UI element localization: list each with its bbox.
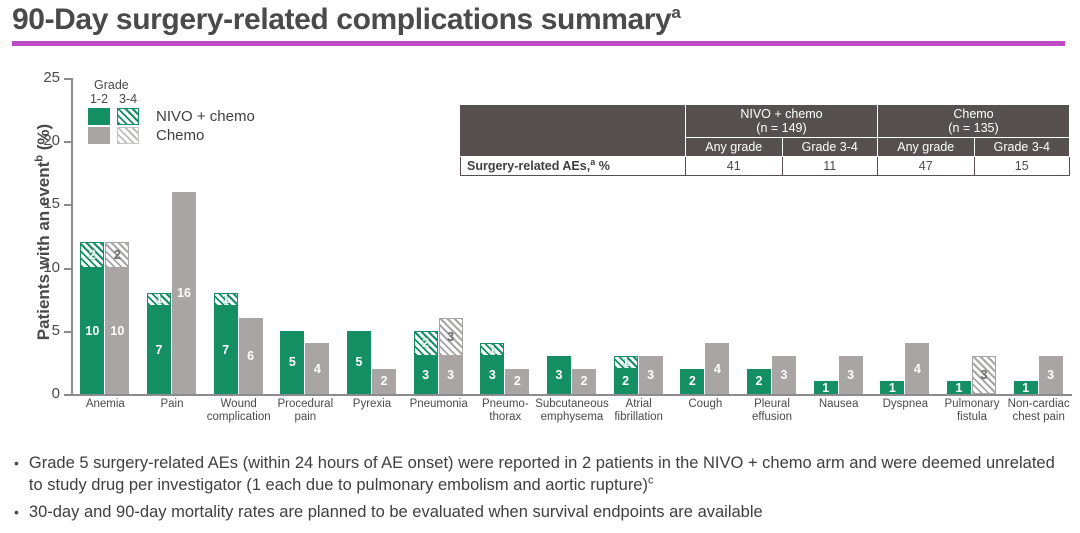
row-label-tail: % bbox=[595, 159, 610, 173]
bar-value-label: 2 bbox=[106, 249, 128, 262]
legend-grade-columns: 1-2 3-4 bbox=[88, 92, 318, 106]
legend-label-chemo: Chemo bbox=[156, 127, 204, 144]
legend-grade-heading: Grade bbox=[94, 78, 318, 92]
bar-chemo: 3 bbox=[639, 356, 663, 394]
bar-segment: 7 bbox=[214, 306, 238, 394]
bar-segment: 1 bbox=[814, 381, 838, 394]
bar-segment: 3 bbox=[439, 356, 463, 394]
bar-segment: 1 bbox=[214, 293, 238, 306]
bar-nivo: 17 bbox=[147, 293, 171, 394]
bar-value-label: 4 bbox=[305, 362, 329, 375]
y-axis-tick-label: 5 bbox=[32, 322, 60, 339]
bar-segment: 2 bbox=[414, 331, 438, 356]
title-block: 90-Day surgery-related complications sum… bbox=[12, 2, 1068, 46]
bar-segment: 3 bbox=[1039, 356, 1063, 394]
bar-value-label: 3 bbox=[639, 369, 663, 382]
bar-value-label: 3 bbox=[480, 369, 504, 382]
bar-nivo: 17 bbox=[214, 293, 238, 394]
bullet-icon: • bbox=[14, 501, 19, 523]
bar-chemo: 2 bbox=[372, 369, 396, 394]
bar-chemo: 3 bbox=[839, 356, 863, 394]
x-axis-label: Non-cardiacchest pain bbox=[997, 398, 1080, 424]
bar-value-label: 16 bbox=[172, 287, 196, 300]
bar-chemo: 16 bbox=[172, 192, 196, 394]
bar-nivo: 1 bbox=[814, 381, 838, 394]
bar-value-label: 7 bbox=[214, 344, 238, 357]
bar-value-label: 5 bbox=[280, 356, 304, 369]
bar-segment: 1 bbox=[614, 356, 638, 369]
footnote-item: • 30-day and 90-day mortality rates are … bbox=[14, 501, 1070, 523]
bar-segment: 2 bbox=[372, 369, 396, 394]
bar-nivo: 23 bbox=[414, 331, 438, 394]
bar-segment: 5 bbox=[347, 331, 371, 394]
x-axis-label-line: chest pain bbox=[997, 411, 1080, 424]
bar-value-label: 2 bbox=[372, 375, 396, 388]
bar-value-label: 1 bbox=[1014, 381, 1038, 394]
bar-nivo: 1 bbox=[1014, 381, 1038, 394]
bar-value-label: 1 bbox=[814, 381, 838, 394]
subheader-chemo-any-grade: Any grade bbox=[877, 138, 974, 157]
bar-value-label: 4 bbox=[905, 362, 929, 375]
bar-value-label: 2 bbox=[680, 375, 704, 388]
bar-segment: 16 bbox=[172, 192, 196, 394]
subheader-chemo-grade34: Grade 3-4 bbox=[974, 138, 1070, 157]
bar-segment: 7 bbox=[147, 306, 171, 394]
bar-segment: 3 bbox=[547, 356, 571, 394]
bar-segment: 1 bbox=[880, 381, 904, 394]
y-axis-tick-label: 20 bbox=[32, 132, 60, 149]
x-axis-label-line: Non-cardiac bbox=[997, 398, 1080, 411]
bar-segment: 10 bbox=[80, 268, 104, 394]
bar-value-label: 2 bbox=[572, 375, 596, 388]
bar-value-label: 3 bbox=[547, 369, 571, 382]
bar-segment: 2 bbox=[105, 242, 129, 267]
subheader-nivo-any-grade: Any grade bbox=[685, 138, 782, 157]
bar-chemo: 3 bbox=[772, 356, 796, 394]
x-axis-label-line: pain bbox=[264, 411, 347, 424]
bar-segment: 2 bbox=[614, 369, 638, 394]
bullet-icon: • bbox=[14, 452, 19, 496]
summary-table-group-row: NIVO + chemo (n = 149) Chemo (n = 135) bbox=[461, 105, 1070, 138]
bar-value-label: 6 bbox=[239, 350, 263, 363]
group-n-chemo: (n = 135) bbox=[882, 121, 1065, 135]
bar-value-label: 2 bbox=[505, 375, 529, 388]
bar-chemo: 4 bbox=[905, 343, 929, 394]
cell-nivo-grade34: 11 bbox=[782, 157, 877, 176]
x-axis-line bbox=[71, 394, 1072, 396]
footnotes: • Grade 5 surgery-related AEs (within 24… bbox=[14, 452, 1070, 528]
bar-chemo: 6 bbox=[239, 318, 263, 394]
bar-value-label: 1 bbox=[148, 293, 170, 306]
row-label-surgery-related-aes: Surgery-related AEs,a % bbox=[461, 157, 686, 176]
bar-value-label: 4 bbox=[705, 362, 729, 375]
x-axis-label-line: effusion bbox=[731, 411, 814, 424]
bar-value-label: 2 bbox=[81, 249, 103, 262]
legend-swatch-nivo-grade34 bbox=[117, 108, 139, 125]
bar-segment: 4 bbox=[305, 343, 329, 394]
legend-row-chemo: Chemo bbox=[88, 127, 318, 144]
bar-chemo: 3 bbox=[1039, 356, 1063, 394]
bar-segment: 1 bbox=[480, 343, 504, 356]
bar-segment: 2 bbox=[680, 369, 704, 394]
y-axis-tick-label: 10 bbox=[32, 259, 60, 276]
bar-value-label: 3 bbox=[440, 331, 462, 344]
bar-chemo: 33 bbox=[439, 318, 463, 394]
bar-chemo: 2 bbox=[505, 369, 529, 394]
bar-segment: 2 bbox=[747, 369, 771, 394]
bar-segment: 3 bbox=[772, 356, 796, 394]
bar-segment: 1 bbox=[947, 381, 971, 394]
table-row: Surgery-related AEs,a % 41 11 47 15 bbox=[461, 157, 1070, 176]
bar-value-label: 10 bbox=[80, 325, 104, 338]
bar-segment: 1 bbox=[147, 293, 171, 306]
bar-nivo: 13 bbox=[480, 343, 504, 394]
bar-value-label: 2 bbox=[614, 375, 638, 388]
bar-value-label: 2 bbox=[415, 337, 437, 350]
legend-swatch-chemo-grade34 bbox=[117, 127, 139, 144]
x-axis-label-line: fibrillation bbox=[597, 411, 680, 424]
bar-chart: Patients with an eventb (%) 0510152025 2… bbox=[0, 62, 1080, 452]
bar-value-label: 3 bbox=[439, 369, 463, 382]
group-name-chemo: Chemo bbox=[882, 107, 1065, 121]
bar-segment: 3 bbox=[839, 356, 863, 394]
bar-value-label: 7 bbox=[147, 344, 171, 357]
bar-segment: 10 bbox=[105, 268, 129, 394]
footnote-item: • Grade 5 surgery-related AEs (within 24… bbox=[14, 452, 1070, 496]
bar-chemo: 4 bbox=[705, 343, 729, 394]
group-name-nivo: NIVO + chemo bbox=[690, 107, 873, 121]
summary-table-body: Surgery-related AEs,a % 41 11 47 15 bbox=[461, 157, 1070, 176]
bar-segment: 2 bbox=[505, 369, 529, 394]
bar-value-label: 3 bbox=[973, 369, 995, 382]
bar-value-label: 1 bbox=[947, 381, 971, 394]
group-n-nivo: (n = 149) bbox=[690, 121, 873, 135]
bar-chemo: 4 bbox=[305, 343, 329, 394]
bar-segment: 3 bbox=[639, 356, 663, 394]
footnote-text: 30-day and 90-day mortality rates are pl… bbox=[29, 501, 763, 523]
chart-legend: Grade 1-2 3-4 NIVO + chemo Chemo bbox=[88, 78, 318, 144]
footnote-body: Grade 5 surgery-related AEs (within 24 h… bbox=[29, 454, 1055, 494]
bar-nivo: 5 bbox=[280, 331, 304, 394]
bar-segment: 5 bbox=[280, 331, 304, 394]
title-underline-rule bbox=[12, 41, 1065, 46]
bar-value-label: 3 bbox=[772, 369, 796, 382]
bar-value-label: 3 bbox=[839, 369, 863, 382]
bar-value-label: 1 bbox=[481, 344, 503, 357]
bar-segment: 2 bbox=[572, 369, 596, 394]
bar-segment: 1 bbox=[1014, 381, 1038, 394]
bar-value-label: 1 bbox=[880, 381, 904, 394]
y-axis-tick-labels: 0510152025 bbox=[26, 78, 60, 395]
bar-chemo: 3 bbox=[972, 356, 996, 394]
bar-nivo: 5 bbox=[347, 331, 371, 394]
bar-segment: 4 bbox=[705, 343, 729, 394]
summary-table-head: NIVO + chemo (n = 149) Chemo (n = 135) A… bbox=[461, 105, 1070, 157]
page-title: 90-Day surgery-related complications sum… bbox=[12, 2, 1068, 38]
cell-chemo-any-grade: 47 bbox=[877, 157, 974, 176]
row-label-text: Surgery-related AEs, bbox=[467, 159, 590, 173]
y-axis-tick-label: 0 bbox=[32, 385, 60, 402]
footnote-text: Grade 5 surgery-related AEs (within 24 h… bbox=[29, 452, 1070, 496]
bar-segment: 3 bbox=[414, 356, 438, 394]
bar-value-label: 1 bbox=[615, 356, 637, 369]
bar-nivo: 2 bbox=[680, 369, 704, 394]
summary-table: NIVO + chemo (n = 149) Chemo (n = 135) A… bbox=[460, 104, 1070, 176]
bar-nivo: 1 bbox=[947, 381, 971, 394]
bar-nivo: 3 bbox=[547, 356, 571, 394]
legend-row-nivo: NIVO + chemo bbox=[88, 108, 318, 125]
subheader-nivo-grade34: Grade 3-4 bbox=[782, 138, 877, 157]
bar-chemo: 2 bbox=[572, 369, 596, 394]
footnote-body: 30-day and 90-day mortality rates are pl… bbox=[29, 503, 763, 521]
bar-nivo: 12 bbox=[614, 356, 638, 394]
bar-value-label: 5 bbox=[347, 356, 371, 369]
legend-col-3-4: 3-4 bbox=[117, 92, 139, 106]
bar-value-label: 2 bbox=[747, 375, 771, 388]
legend-swatch-chemo-grade12 bbox=[88, 127, 110, 144]
bar-segment: 3 bbox=[480, 356, 504, 394]
bar-chemo: 210 bbox=[105, 242, 129, 394]
bar-segment: 3 bbox=[972, 356, 996, 394]
summary-table-corner bbox=[461, 105, 686, 157]
bar-nivo: 210 bbox=[80, 242, 104, 394]
bar-value-label: 1 bbox=[215, 293, 237, 306]
y-axis-tick-label: 25 bbox=[32, 69, 60, 86]
legend-label-nivo: NIVO + chemo bbox=[156, 108, 255, 125]
y-axis-tick-label: 15 bbox=[32, 195, 60, 212]
bar-value-label: 3 bbox=[414, 369, 438, 382]
bar-nivo: 2 bbox=[747, 369, 771, 394]
legend-swatch-nivo-grade12 bbox=[88, 108, 110, 125]
summary-table-group-chemo: Chemo (n = 135) bbox=[877, 105, 1069, 138]
cell-chemo-grade34: 15 bbox=[974, 157, 1070, 176]
legend-col-1-2: 1-2 bbox=[88, 92, 110, 106]
bar-segment: 3 bbox=[439, 318, 463, 356]
footnote-superscript: c bbox=[648, 475, 654, 487]
bar-segment: 4 bbox=[905, 343, 929, 394]
bar-value-label: 3 bbox=[1039, 369, 1063, 382]
summary-table-group-nivo: NIVO + chemo (n = 149) bbox=[685, 105, 877, 138]
page-title-superscript: a bbox=[671, 3, 680, 22]
bar-segment: 6 bbox=[239, 318, 263, 394]
cell-nivo-any-grade: 41 bbox=[685, 157, 782, 176]
bar-segment: 2 bbox=[80, 242, 104, 267]
bar-nivo: 1 bbox=[880, 381, 904, 394]
bar-value-label: 10 bbox=[105, 325, 129, 338]
page-title-text: 90-Day surgery-related complications sum… bbox=[12, 3, 671, 36]
